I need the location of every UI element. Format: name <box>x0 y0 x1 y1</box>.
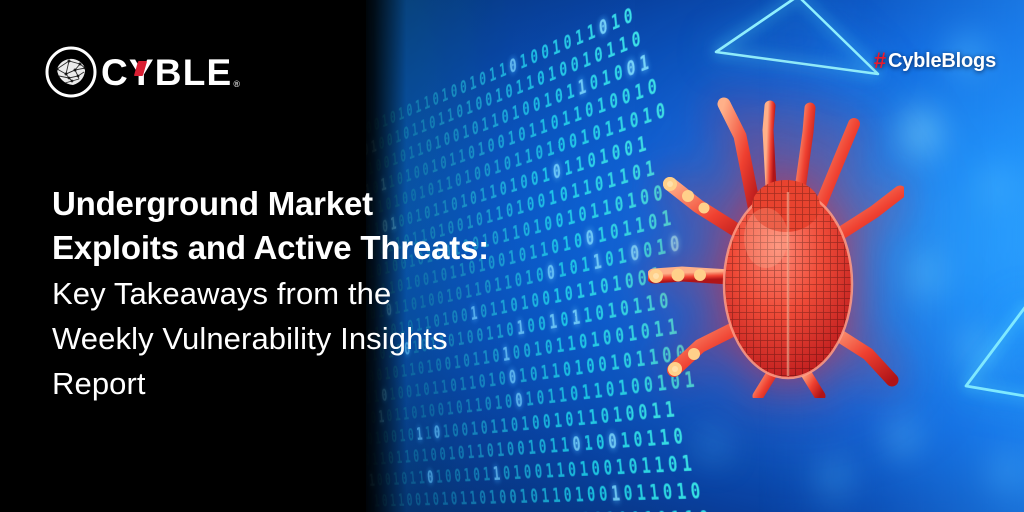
glow-spot <box>700 430 726 462</box>
headline-block: Underground Market Exploits and Active T… <box>52 182 572 406</box>
hashtag-icon: # <box>874 50 886 72</box>
headline-primary: Underground Market Exploits and Active T… <box>52 182 572 270</box>
headline-secondary-line-3: Report <box>52 361 572 406</box>
cyble-globe-icon <box>45 46 97 98</box>
blog-banner: 1011001010110100101101001011010011010010… <box>0 0 1024 512</box>
neon-triangle-icon <box>960 300 1024 430</box>
cyble-wordmark-text: CYBLE <box>101 52 232 93</box>
headline-primary-line-2: Exploits and Active Threats: <box>52 226 572 270</box>
registered-trademark: ® <box>233 79 241 89</box>
headline-secondary-line-1: Key Takeaways from the <box>52 271 572 316</box>
cyble-wordmark: CYBLE® <box>101 54 241 91</box>
neon-triangle-icon <box>706 0 886 80</box>
cyble-blogs-label: CybleBlogs <box>888 51 996 71</box>
cyble-logo[interactable]: CYBLE® <box>45 46 241 98</box>
headline-secondary-line-2: Weekly Vulnerability Insights <box>52 316 572 361</box>
headline-primary-line-1: Underground Market <box>52 182 572 226</box>
cyble-blogs-badge[interactable]: # CybleBlogs <box>874 50 996 72</box>
bug-malware-icon <box>648 88 904 398</box>
headline-secondary: Key Takeaways from the Weekly Vulnerabil… <box>52 271 572 406</box>
